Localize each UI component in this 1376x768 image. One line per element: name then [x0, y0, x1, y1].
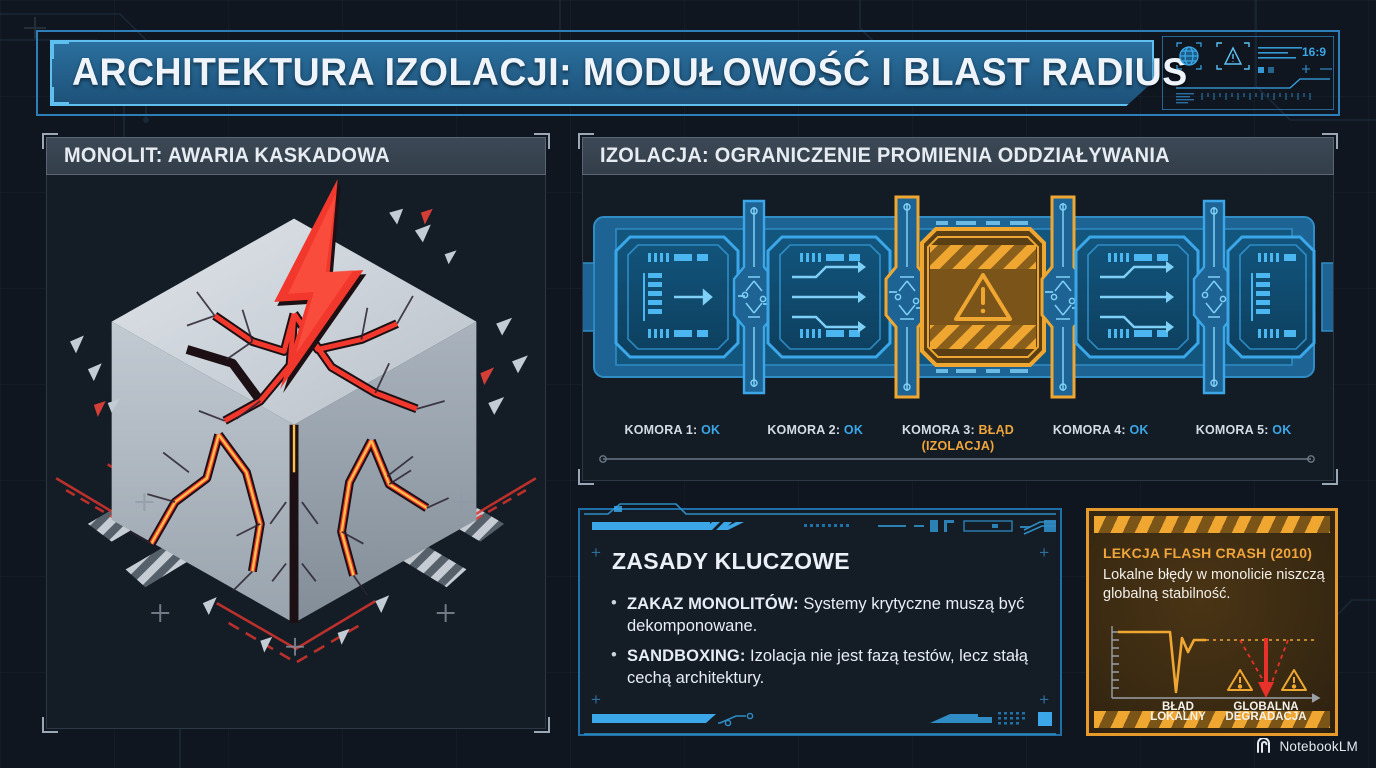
notebooklm-watermark: NotebookLM [1256, 738, 1358, 754]
warning-triangle-icon [1217, 43, 1249, 69]
module-chain-diagram [583, 177, 1333, 417]
rule-bullet-icon: • [611, 645, 617, 667]
module-chamber-2[interactable] [768, 237, 890, 357]
measurement-line [597, 454, 1317, 464]
isolation-panel-title: IZOLACJA: OGRANICZENIE PROMIENIA ODDZIAŁ… [600, 144, 1170, 168]
aspect-ratio-label: 16:9 [1302, 45, 1326, 59]
chart-y-axis [1112, 626, 1119, 698]
watermark-label: NotebookLM [1279, 739, 1358, 754]
title-bar: ARCHITEKTURA IZOLACJI: MODUŁOWOŚĆ I BLAS… [36, 30, 1340, 116]
notebooklm-logo-icon [1256, 738, 1273, 754]
rule-bullet-icon: • [611, 593, 617, 615]
title-corner-tl-icon [52, 42, 69, 59]
chart-warning-icon-right [1282, 670, 1306, 690]
isolation-panel-body: KOMORA 1: OK KOMORA 2: OK KOMORA 3: BŁĄD… [582, 175, 1334, 481]
module-chamber-1[interactable] [616, 237, 738, 357]
module-chamber-4[interactable] [1076, 237, 1198, 357]
rules-title: ZASADY KLUCZOWE [612, 548, 850, 575]
chart-series-local-fault [1118, 632, 1206, 692]
rules-plus-bl-icon: + [591, 691, 601, 708]
isolation-panel-header: IZOLACJA: OGRANICZENIE PROMIENIA ODDZIAŁ… [582, 137, 1334, 175]
rules-bottom-decoration [578, 706, 1062, 746]
isolation-panel: IZOLACJA: OGRANICZENIE PROMIENIA ODDZIAŁ… [578, 133, 1338, 485]
monolith-illustration-area [46, 175, 546, 729]
flash-crash-title: LEKCJA FLASH CRASH (2010) [1103, 545, 1312, 561]
chamber-3-isolation-note: (IZOLACJA) [887, 439, 1030, 453]
flash-crash-panel: LEKCJA FLASH CRASH (2010) Lokalne błędy … [1086, 508, 1338, 736]
rule-term: SANDBOXING: [627, 647, 745, 665]
flash-crash-subtitle: Lokalne błędy w monolicie niszczą global… [1103, 566, 1326, 604]
monolith-panel-header: MONOLIT: AWARIA KASKADOWA [46, 137, 546, 175]
globe-icon [1180, 47, 1198, 65]
page-title: ARCHITEKTURA IZOLACJI: MODUŁOWOŚĆ I BLAS… [72, 51, 1188, 95]
chart-label-global-2: DEGRADACJA [1225, 711, 1306, 720]
chart-label-local-2: LOKALNY [1150, 711, 1206, 720]
title-corner-bl-icon [52, 87, 69, 104]
cracked-cube-illustration [47, 175, 545, 728]
rules-plus-tl-icon: + [591, 544, 601, 561]
hazard-stripe-top [1094, 516, 1330, 533]
rules-top-decoration [578, 500, 1062, 546]
key-rules-panel: + + + + ZASADY KLUCZOWE • ZAKAZ MONOLITÓ… [578, 508, 1062, 736]
chart-warning-icon-left [1228, 670, 1252, 690]
rule-term: ZAKAZ MONOLITÓW: [627, 595, 799, 613]
module-chamber-5[interactable] [1228, 237, 1314, 357]
monolith-panel: MONOLIT: AWARIA KASKADOWA [42, 133, 550, 733]
module-chamber-3-isolated[interactable] [922, 221, 1044, 373]
rules-plus-br-icon: + [1039, 691, 1049, 708]
rule-item: • SANDBOXING: Izolacja nie jest fazą tes… [611, 646, 1036, 690]
rule-item: • ZAKAZ MONOLITÓW: Systemy krytyczne mus… [611, 594, 1036, 638]
title-hud-decoration: 16:9 [1162, 36, 1334, 110]
monolith-panel-title: MONOLIT: AWARIA KASKADOWA [64, 144, 390, 168]
flash-crash-chart: BŁĄD LOKALNY GLOBALNA DEGRADACJA [1094, 620, 1330, 720]
rules-plus-tr-icon: + [1039, 544, 1049, 561]
